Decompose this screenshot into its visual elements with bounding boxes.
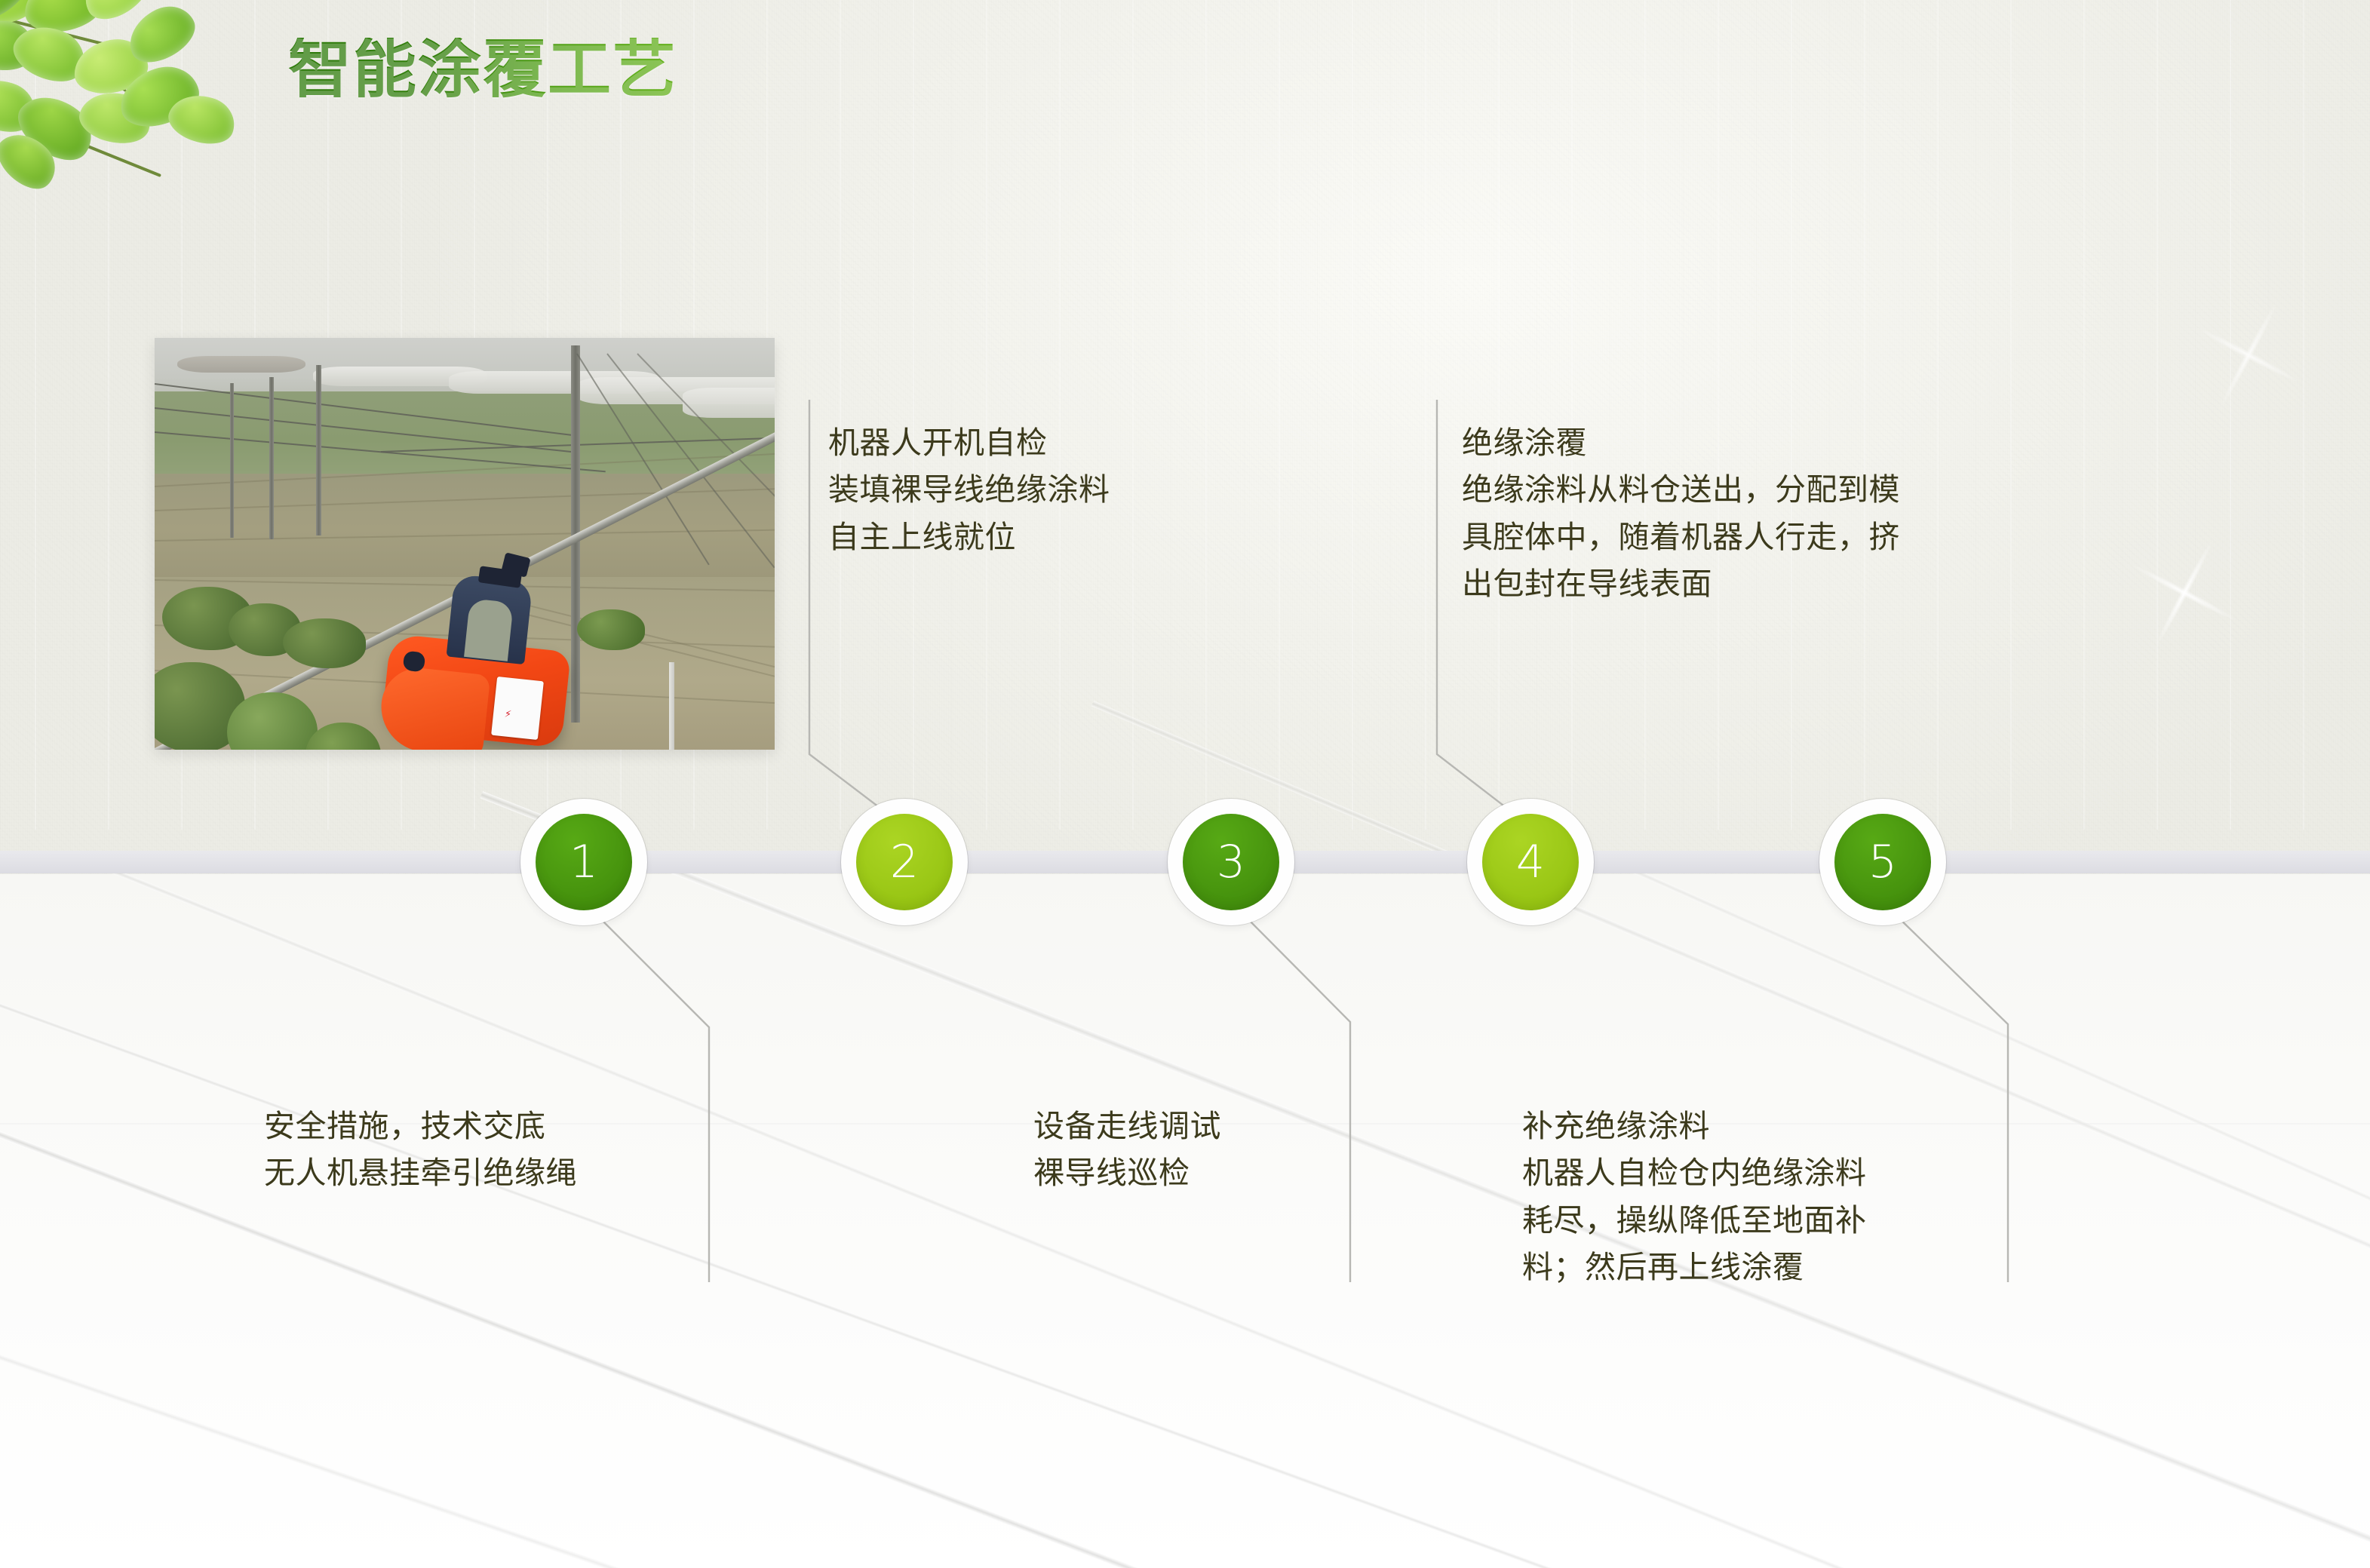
step-4-text: 绝缘涂覆 绝缘涂料从料仓送出，分配到模 具腔体中，随着机器人行走，挤 出包封在导… <box>1462 419 2080 607</box>
timeline-node-2-badge: 2 <box>856 814 953 910</box>
timeline-node-4-badge: 4 <box>1482 814 1579 910</box>
timeline-node-4[interactable]: 4 <box>1467 799 1594 925</box>
timeline-node-1-number: 1 <box>569 839 598 885</box>
timeline-node-5-badge: 5 <box>1834 814 1931 910</box>
timeline-node-1[interactable]: 1 <box>520 799 647 925</box>
timeline-node-3[interactable]: 3 <box>1168 799 1294 925</box>
timeline-node-5[interactable]: 5 <box>1819 799 1946 925</box>
timeline-node-3-badge: 3 <box>1183 814 1279 910</box>
step-5-text: 补充绝缘涂料 机器人自检仓内绝缘涂料 耗尽，操纵降低至地面补 料；然后再上线涂覆 <box>1522 1103 2020 1290</box>
timeline-node-3-number: 3 <box>1217 839 1245 885</box>
step-1-text: 安全措施，技术交底 无人机悬挂牵引绝缘绳 <box>264 1103 732 1197</box>
timeline-node-5-number: 5 <box>1868 839 1897 885</box>
connector-lines <box>0 0 2370 1568</box>
step-3-text: 设备走线调试 裸导线巡检 <box>1033 1103 1358 1197</box>
timeline-node-1-badge: 1 <box>536 814 632 910</box>
slide-canvas: 智能涂覆工艺 <box>0 0 2370 1568</box>
timeline-node-4-number: 4 <box>1516 839 1545 885</box>
timeline-node-2-number: 2 <box>890 839 919 885</box>
timeline-node-2[interactable]: 2 <box>841 799 968 925</box>
step-2-text: 机器人开机自检 装填裸导线绝缘涂料 自主上线就位 <box>828 419 1311 560</box>
